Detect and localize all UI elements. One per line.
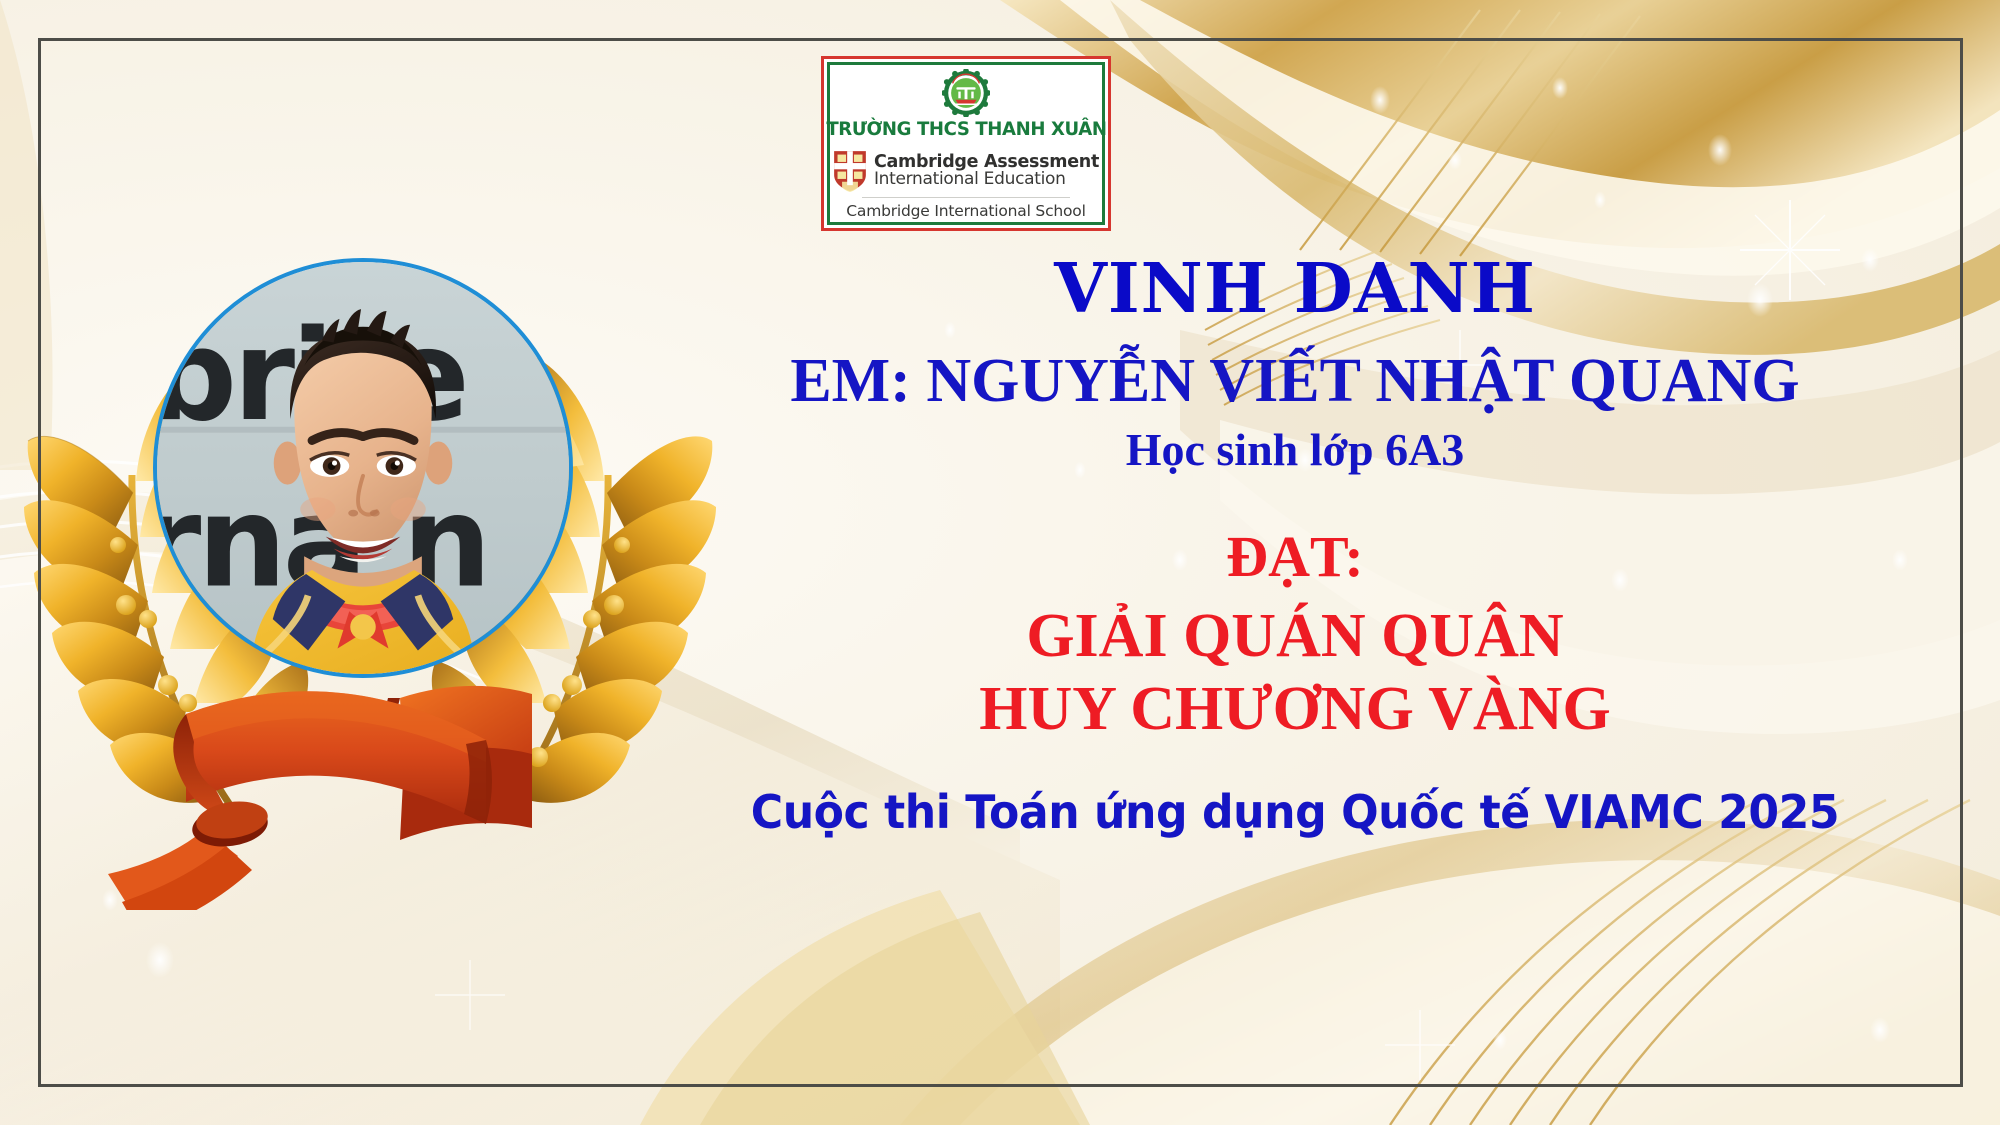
school-logo-box: TRƯỜNG THCS THANH XUÂN Cambridge Assessm…: [821, 56, 1111, 231]
honor-text-column: VINH DANH EM: NGUYỄN VIẾT NHẬT QUANG Học…: [640, 255, 1950, 837]
cambridge-line3: Cambridge International School: [846, 202, 1085, 220]
school-name-text: TRƯỜNG THCS THANH XUÂN: [826, 118, 1106, 140]
school-crest-icon: [942, 69, 990, 117]
cambridge-divider: [862, 197, 1070, 198]
cambridge-text-block: Cambridge Assessment International Educa…: [874, 153, 1099, 189]
achievement-label: ĐẠT:: [640, 527, 1950, 588]
certificate-canvas: TRƯỜNG THCS THANH XUÂN Cambridge Assessm…: [0, 0, 2000, 1125]
contest-name-text: Cuộc thi Toán ứng dụng Quốc tế VIAMC 202…: [666, 787, 1924, 838]
award-ribbon-banner: [100, 610, 570, 910]
award-line-2: HUY CHƯƠNG VÀNG: [640, 673, 1950, 746]
award-line-1: GIẢI QUÁN QUÂN: [640, 600, 1950, 673]
cambridge-line2: International Education: [874, 171, 1099, 189]
student-class-text: Học sinh lớp 6A3: [640, 425, 1950, 476]
cambridge-shield-icon: [833, 150, 867, 192]
cambridge-logo-row: Cambridge Assessment International Educa…: [833, 150, 1099, 192]
headline-vinh-danh: VINH DANH: [640, 255, 1950, 323]
student-name-text: EM: NGUYỄN VIẾT NHẬT QUANG: [640, 349, 1950, 415]
